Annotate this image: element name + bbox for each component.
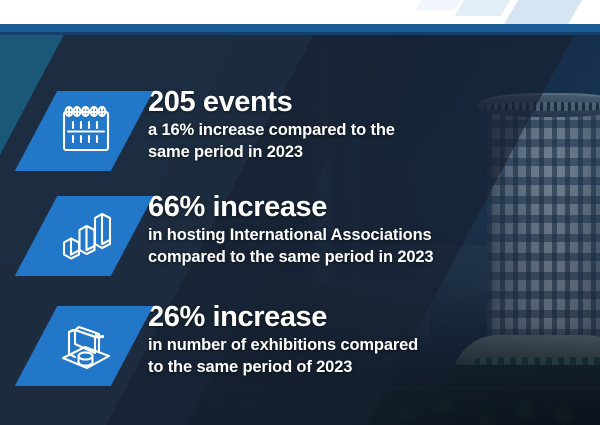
- stat-subline-1: in hosting International Associations: [148, 225, 600, 246]
- bar-chart-icon: [55, 204, 117, 266]
- exhibition-booth-icon: [55, 314, 117, 376]
- stat-text-block: 205 events a 16% increase compared to th…: [148, 85, 600, 163]
- statistics-list: 205 events a 16% increase compared to th…: [0, 35, 600, 425]
- stat-subline-1: in number of exhibitions compared: [148, 335, 600, 356]
- icon-slot: [0, 300, 148, 392]
- stat-row: 66% increase in hosting International As…: [0, 190, 600, 282]
- infographic-slide: 205 events a 16% increase compared to th…: [0, 0, 600, 425]
- stat-text-block: 66% increase in hosting International As…: [148, 190, 600, 268]
- stat-text-block: 26% increase in number of exhibitions co…: [148, 300, 600, 378]
- top-diagonal-shape-1: [504, 0, 596, 24]
- stat-subline-2: same period in 2023: [148, 142, 600, 163]
- stat-row: 205 events a 16% increase compared to th…: [0, 85, 600, 177]
- stat-subline-2: compared to the same period in 2023: [148, 247, 600, 268]
- stat-subline-1: a 16% increase compared to the: [148, 120, 600, 141]
- icon-slot: [0, 85, 148, 177]
- icon-slot: [0, 190, 148, 282]
- top-white-band: [0, 0, 600, 24]
- stat-headline: 205 events: [148, 87, 600, 117]
- top-blue-divider-bar: [0, 24, 600, 35]
- stat-headline: 26% increase: [148, 302, 600, 332]
- calendar-icon: [55, 99, 117, 161]
- stat-headline: 66% increase: [148, 192, 600, 222]
- stat-row: 26% increase in number of exhibitions co…: [0, 300, 600, 392]
- stat-subline-2: to the same period of 2023: [148, 357, 600, 378]
